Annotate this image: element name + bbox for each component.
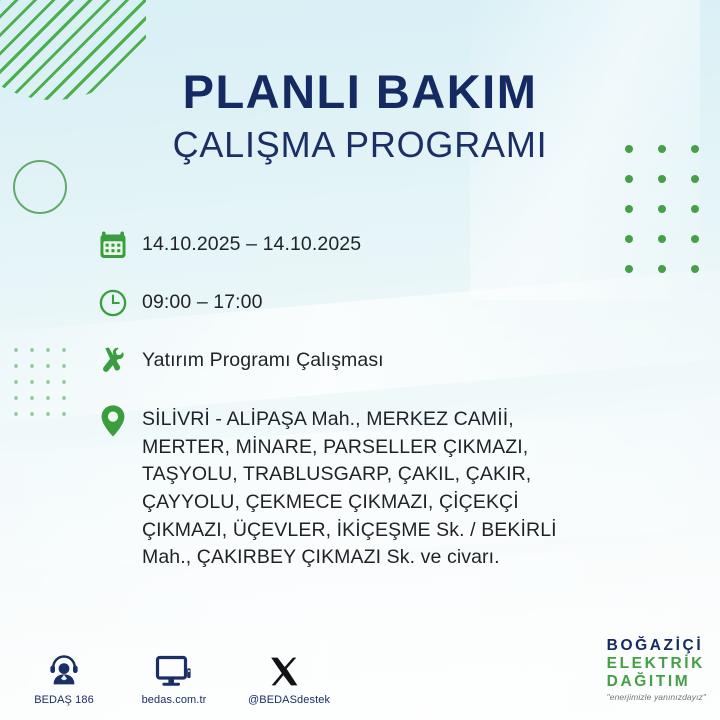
- logo-line-bogazici: BOĞAZİÇİ: [607, 637, 706, 655]
- location-line: ÇIKMAZI, ÜÇEVLER, İKİÇEŞME Sk. / BEKİRLİ: [142, 517, 557, 545]
- detail-row-date: 14.10.2025 – 14.10.2025: [98, 230, 638, 270]
- title-primary: PLANLI BAKIM: [0, 68, 720, 115]
- headset-support-icon: [28, 649, 100, 689]
- page-title: PLANLI BAKIM ÇALIŞMA PROGRAMI: [0, 68, 720, 163]
- dot-grid-left-decoration: [14, 348, 78, 428]
- title-secondary: ÇALIŞMA PROGRAMI: [0, 127, 720, 163]
- clock-icon: [98, 288, 142, 328]
- map-pin-icon: [98, 404, 142, 446]
- time-range-value: 09:00 – 17:00: [142, 288, 263, 313]
- outage-details: 14.10.2025 – 14.10.2025 09:00 – 17:00: [98, 230, 638, 572]
- location-line: SİLİVRİ - ALİPAŞA Mah., MERKEZ CAMİİ,: [142, 406, 557, 434]
- contact-label: BEDAŞ 186: [28, 694, 100, 706]
- dot-grid-right-decoration: [625, 145, 720, 295]
- contact-item-website[interactable]: bedas.com.tr: [138, 649, 210, 706]
- location-value: SİLİVRİ - ALİPAŞA Mah., MERKEZ CAMİİ, ME…: [142, 404, 557, 572]
- circle-outline-decoration: [13, 160, 67, 214]
- x-twitter-icon: [248, 649, 320, 689]
- logo-tagline: "enerjimizle yanınızdayız": [607, 692, 706, 702]
- contact-footer: BEDAŞ 186 bedas.com.tr @BEDASdestek: [28, 649, 320, 706]
- logo-line-elektrik: ELEKTRİK: [607, 655, 706, 673]
- contact-item-social[interactable]: @BEDASdestek: [248, 649, 320, 706]
- contact-label: bedas.com.tr: [138, 694, 210, 706]
- monitor-website-icon: [138, 649, 210, 689]
- location-line: TAŞYOLU, TRABLUSGARP, ÇAKIL, ÇAKIR,: [142, 461, 557, 489]
- calendar-icon: [98, 230, 142, 270]
- work-type-value: Yatırım Programı Çalışması: [142, 346, 384, 371]
- detail-row-time: 09:00 – 17:00: [98, 288, 638, 328]
- location-line: ÇAYYOLU, ÇEKMECE ÇIKMAZI, ÇİÇEKÇİ: [142, 489, 557, 517]
- detail-row-work-type: Yatırım Programı Çalışması: [98, 346, 638, 386]
- detail-row-location: SİLİVRİ - ALİPAŞA Mah., MERKEZ CAMİİ, ME…: [98, 404, 638, 572]
- poster-canvas: PLANLI BAKIM ÇALIŞMA PROGRAMI: [0, 0, 720, 720]
- logo-line-dagitim: DAĞITIM: [607, 673, 706, 691]
- contact-item-call-center[interactable]: BEDAŞ 186: [28, 649, 100, 706]
- company-logo: BOĞAZİÇİ ELEKTRİK DAĞITIM "enerjimizle y…: [607, 637, 706, 702]
- contact-label: @BEDASdestek: [248, 694, 320, 706]
- location-line: Mah., ÇAKIRBEY ÇIKMAZI Sk. ve civarı.: [142, 544, 557, 572]
- location-line: MERTER, MİNARE, PARSELLER ÇIKMAZI,: [142, 434, 557, 462]
- tools-icon: [98, 346, 142, 386]
- date-range-value: 14.10.2025 – 14.10.2025: [142, 230, 361, 255]
